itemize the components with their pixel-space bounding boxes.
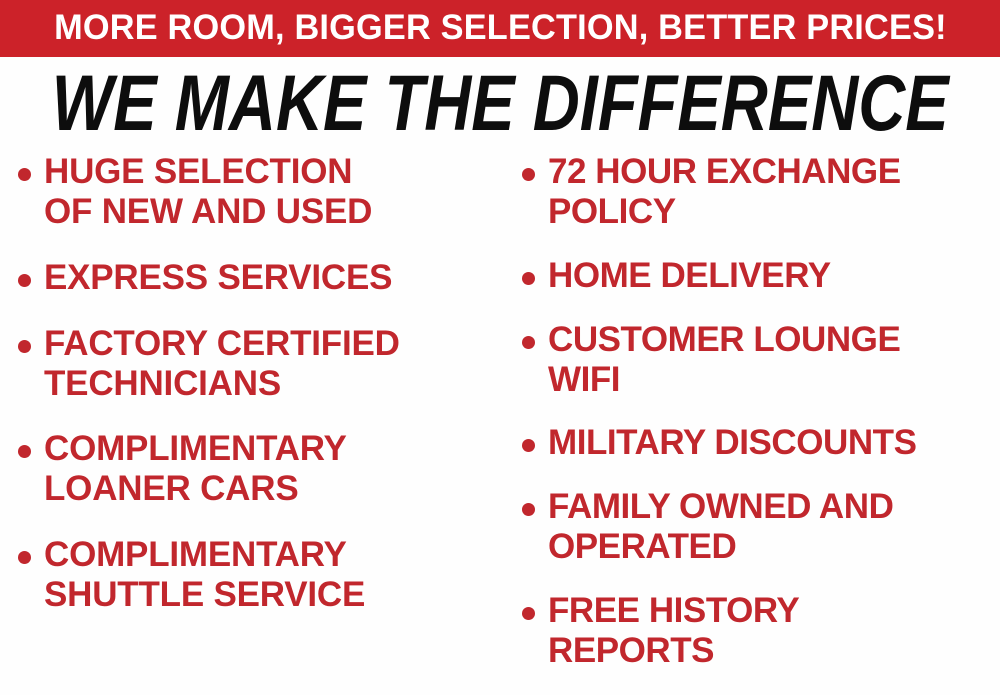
- bullet-dot-icon: [522, 168, 535, 181]
- bullet-dot-icon: [522, 336, 535, 349]
- list-item-label: FAMILY OWNED AND OPERATED: [548, 487, 893, 567]
- list-item: HOME DELIVERY: [522, 256, 1000, 296]
- list-item: 72 HOUR EXCHANGE POLICY: [522, 152, 1000, 232]
- list-item-label: HUGE SELECTION OF NEW AND USED: [44, 152, 372, 232]
- promo-poster: MORE ROOM, BIGGER SELECTION, BETTER PRIC…: [0, 0, 1000, 694]
- list-item: HUGE SELECTION OF NEW AND USED: [18, 152, 496, 232]
- list-item: EXPRESS SERVICES: [18, 258, 496, 298]
- list-item-label: EXPRESS SERVICES: [44, 258, 392, 298]
- list-item-label: CUSTOMER LOUNGE WIFI: [548, 320, 900, 400]
- banner-headline-text: MORE ROOM, BIGGER SELECTION, BETTER PRIC…: [54, 10, 947, 47]
- list-item-label: 72 HOUR EXCHANGE POLICY: [548, 152, 901, 232]
- list-item: MILITARY DISCOUNTS: [522, 423, 1000, 463]
- bullet-dot-icon: [522, 503, 535, 516]
- list-item-label: COMPLIMENTARY LOANER CARS: [44, 429, 347, 509]
- headline-container: WE MAKE THE DIFFERENCE: [0, 62, 1000, 144]
- bullet-dot-icon: [18, 340, 31, 353]
- benefits-column-left: HUGE SELECTION OF NEW AND USED EXPRESS S…: [0, 152, 500, 641]
- benefits-columns: HUGE SELECTION OF NEW AND USED EXPRESS S…: [0, 152, 1000, 694]
- list-item: FREE HISTORY REPORTS: [522, 591, 1000, 671]
- benefits-column-right: 72 HOUR EXCHANGE POLICY HOME DELIVERY CU…: [500, 152, 1000, 695]
- bullet-dot-icon: [18, 551, 31, 564]
- list-item-label: FACTORY CERTIFIED TECHNICIANS: [44, 324, 400, 404]
- bullet-dot-icon: [18, 274, 31, 287]
- list-item: COMPLIMENTARY SHUTTLE SERVICE: [18, 535, 496, 615]
- bullet-dot-icon: [522, 272, 535, 285]
- list-item: FAMILY OWNED AND OPERATED: [522, 487, 1000, 567]
- bullet-dot-icon: [522, 439, 535, 452]
- list-item-label: MILITARY DISCOUNTS: [548, 423, 916, 463]
- page-title: WE MAKE THE DIFFERENCE: [52, 64, 949, 142]
- list-item: CUSTOMER LOUNGE WIFI: [522, 320, 1000, 400]
- list-item-label: HOME DELIVERY: [548, 256, 831, 296]
- list-item: FACTORY CERTIFIED TECHNICIANS: [18, 324, 496, 404]
- list-item-label: FREE HISTORY REPORTS: [548, 591, 799, 671]
- bullet-dot-icon: [522, 607, 535, 620]
- top-banner: MORE ROOM, BIGGER SELECTION, BETTER PRIC…: [0, 0, 1000, 57]
- bullet-dot-icon: [18, 445, 31, 458]
- list-item: COMPLIMENTARY LOANER CARS: [18, 429, 496, 509]
- list-item-label: COMPLIMENTARY SHUTTLE SERVICE: [44, 535, 365, 615]
- bullet-dot-icon: [18, 168, 31, 181]
